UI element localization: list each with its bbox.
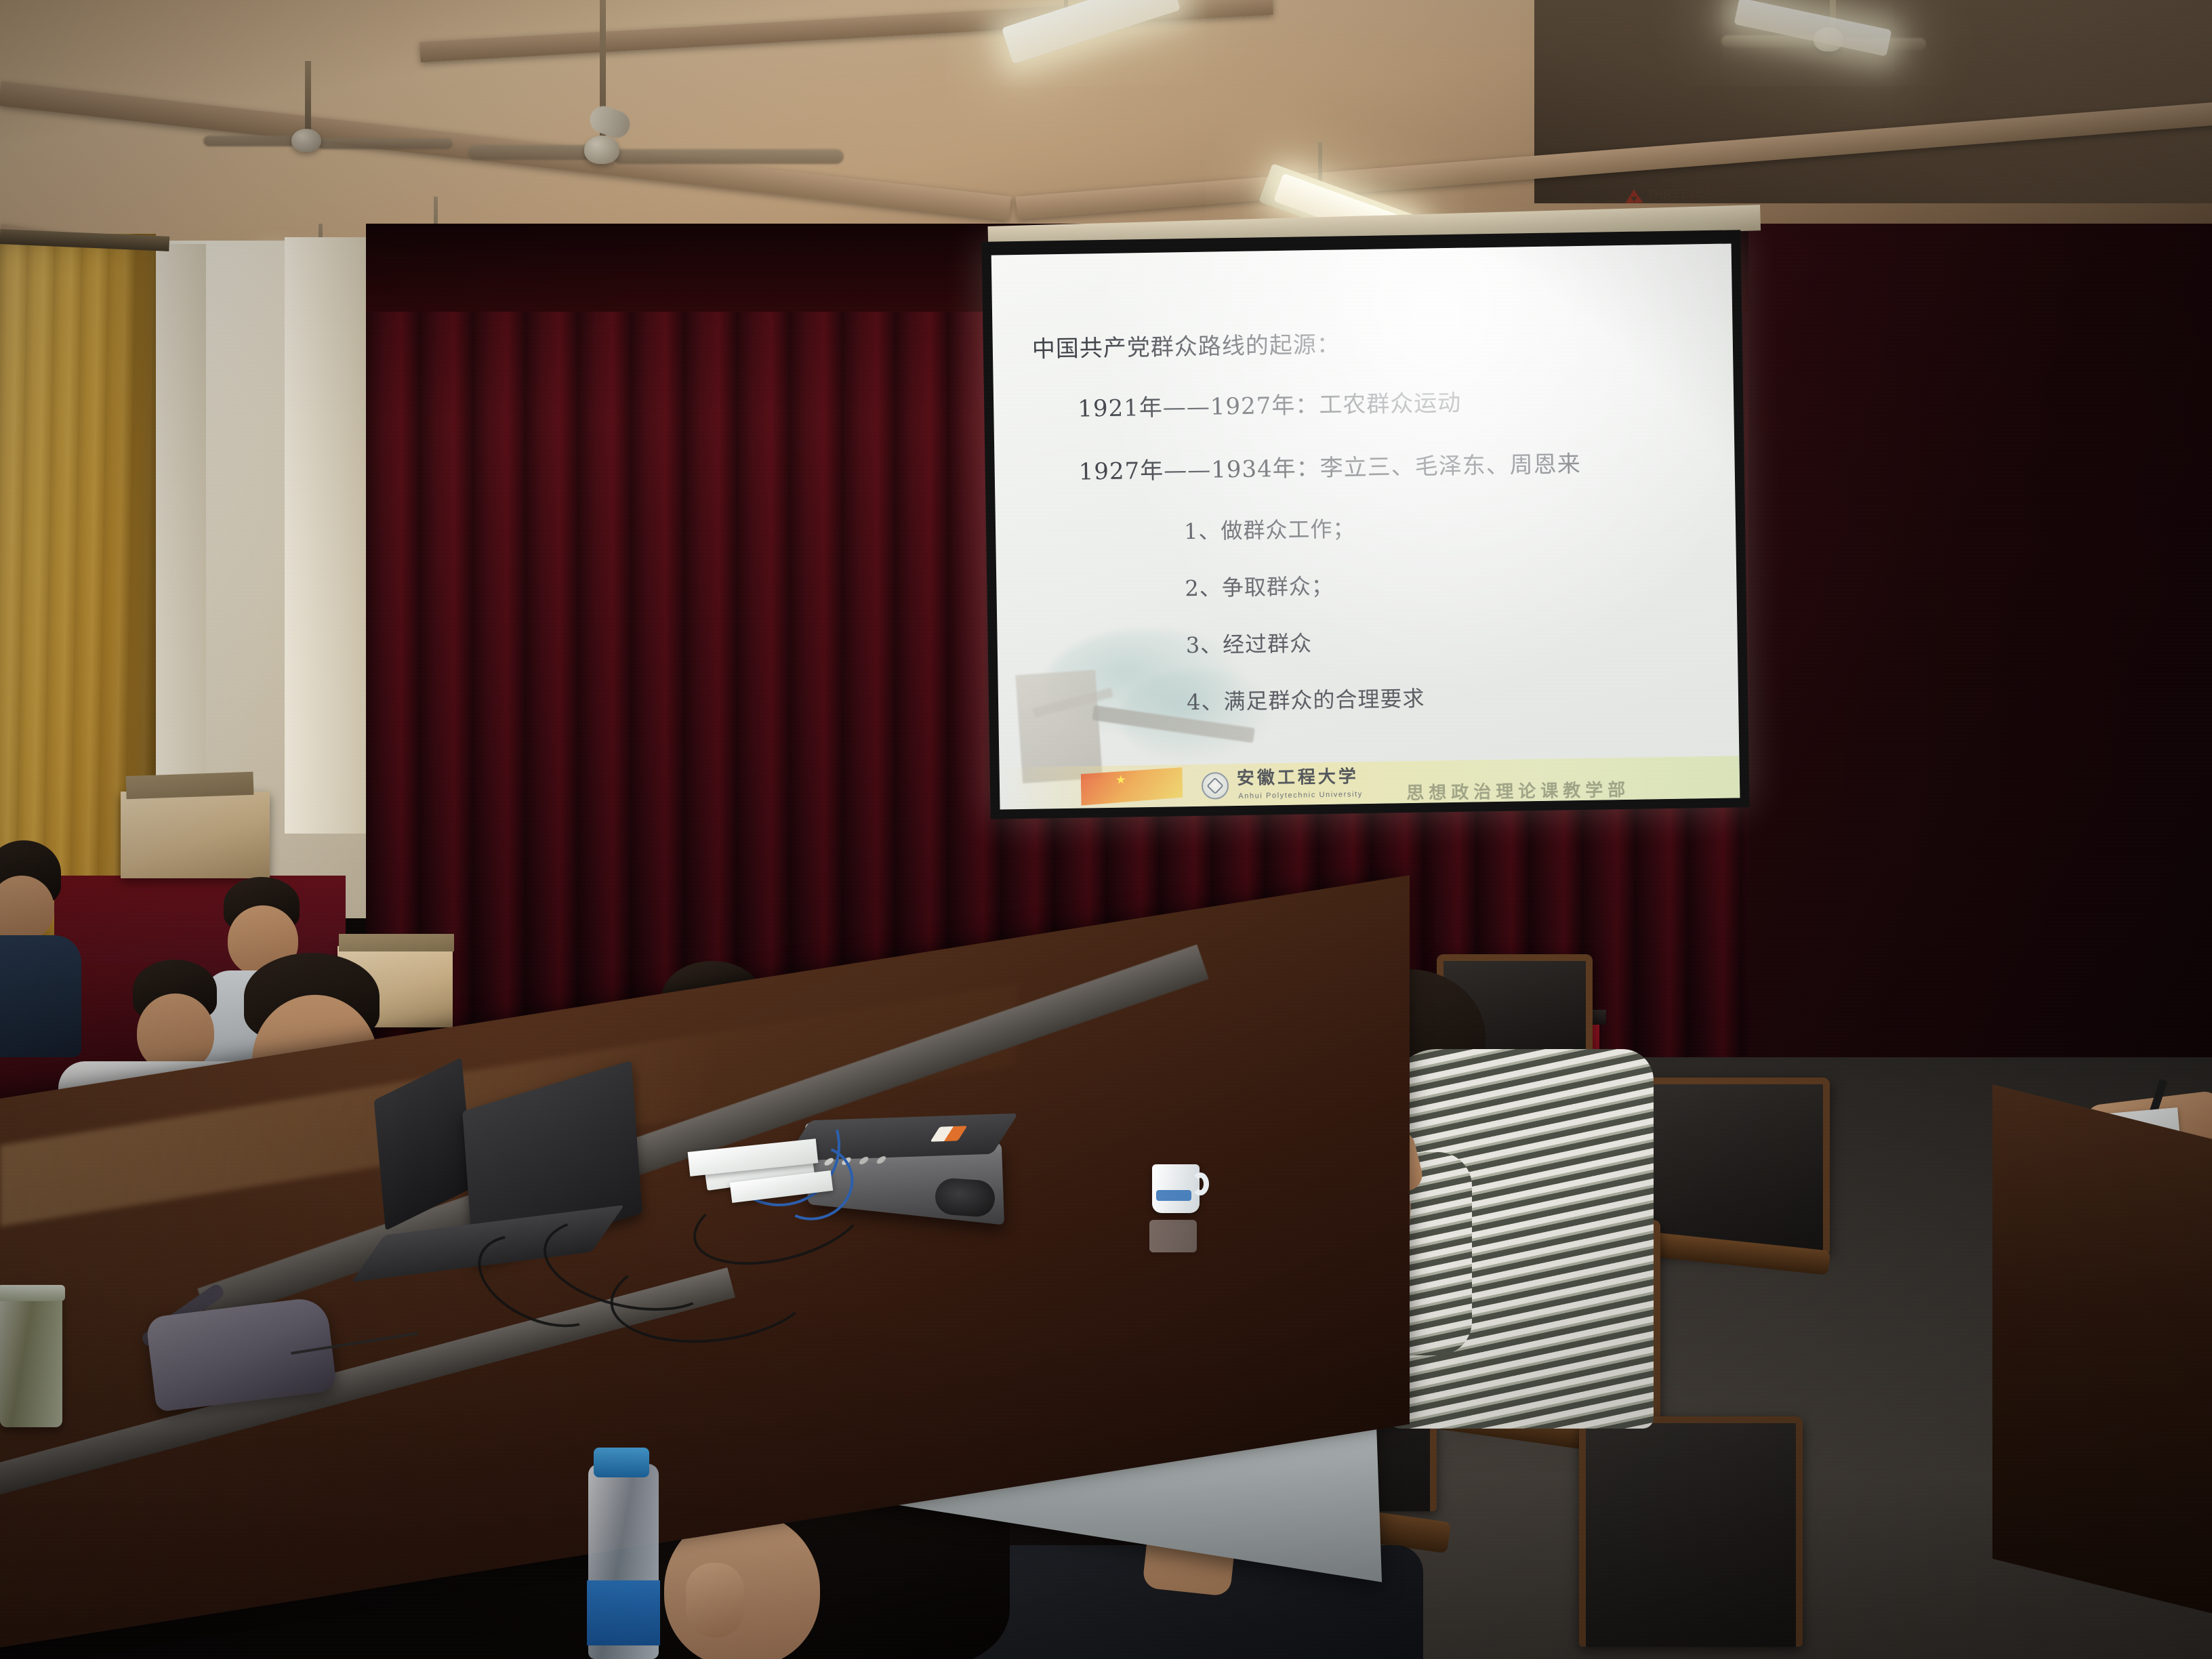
projection-screen: 中国共产党群众路线的起源： 1921年——1927年：工农群众运动 1927年—… [981, 230, 1749, 819]
university-name-en: Anhui Polytechnic University [1238, 790, 1363, 800]
ceiling-fan-rod [305, 61, 311, 136]
ceiling-fan-blade [468, 145, 596, 160]
university-seal-icon [1202, 772, 1229, 800]
mug-reflection [1149, 1220, 1197, 1252]
mug-logo-band [1156, 1190, 1191, 1201]
cardboard-box [121, 792, 270, 878]
cardboard-box-flap [339, 934, 454, 951]
tea-jar[interactable] [0, 1292, 62, 1427]
chair-backrest [1579, 1416, 1803, 1647]
ceiling-fan-blade [317, 138, 453, 149]
ceiling-fan-hub [291, 129, 321, 152]
chair-backrest [1640, 1078, 1830, 1254]
flag-graphic [1081, 767, 1183, 805]
slide-bullet: 1、做群众工作； [1184, 506, 1712, 546]
cardboard-box-flap [125, 772, 253, 800]
right-table [1992, 1084, 2212, 1650]
slide-text-block: 中国共产党群众路线的起源： 1921年——1927年：工农群众运动 1927年—… [991, 243, 1740, 809]
ceiling-fan-hub [584, 136, 619, 164]
slide-period-line: 1927年——1934年：李立三、毛泽东、周恩来 [1078, 443, 1711, 487]
university-name-cn: 安徽工程大学 [1237, 762, 1359, 790]
ear [686, 1563, 744, 1637]
bottle-label [587, 1580, 660, 1645]
wall-column [285, 237, 373, 834]
classroom-scene: THREELEAVES 中国共产党群众路线的起源： 1921年——1927年：工… [0, 0, 2212, 1659]
head [137, 994, 214, 1072]
slide-bullet: 3、经过群众 [1185, 620, 1713, 659]
slide-title: 中国共产党群众路线的起源： [1031, 320, 1708, 364]
slide-bullet: 4、满足群众的合理要求 [1187, 677, 1715, 716]
three-diamond-icon [1626, 189, 1642, 203]
projected-slide: 中国共产党群众路线的起源： 1921年——1927年：工农群众运动 1927年—… [991, 243, 1740, 809]
slide-bullet: 2、争取群众； [1185, 563, 1713, 602]
right-wall [1748, 224, 2212, 1118]
mug-handle [1191, 1172, 1209, 1195]
jar-lid [0, 1285, 65, 1301]
course-name-cn: 思想政治理论课教学部 [1406, 776, 1631, 804]
projector-lens [934, 1177, 996, 1218]
slide-period-line: 1921年——1927年：工农群众运动 [1078, 380, 1710, 424]
ceiling-fan-blade [203, 136, 295, 146]
torso [0, 935, 81, 1057]
bottle-cap [594, 1448, 649, 1477]
ceiling-fan-blade [613, 149, 844, 164]
